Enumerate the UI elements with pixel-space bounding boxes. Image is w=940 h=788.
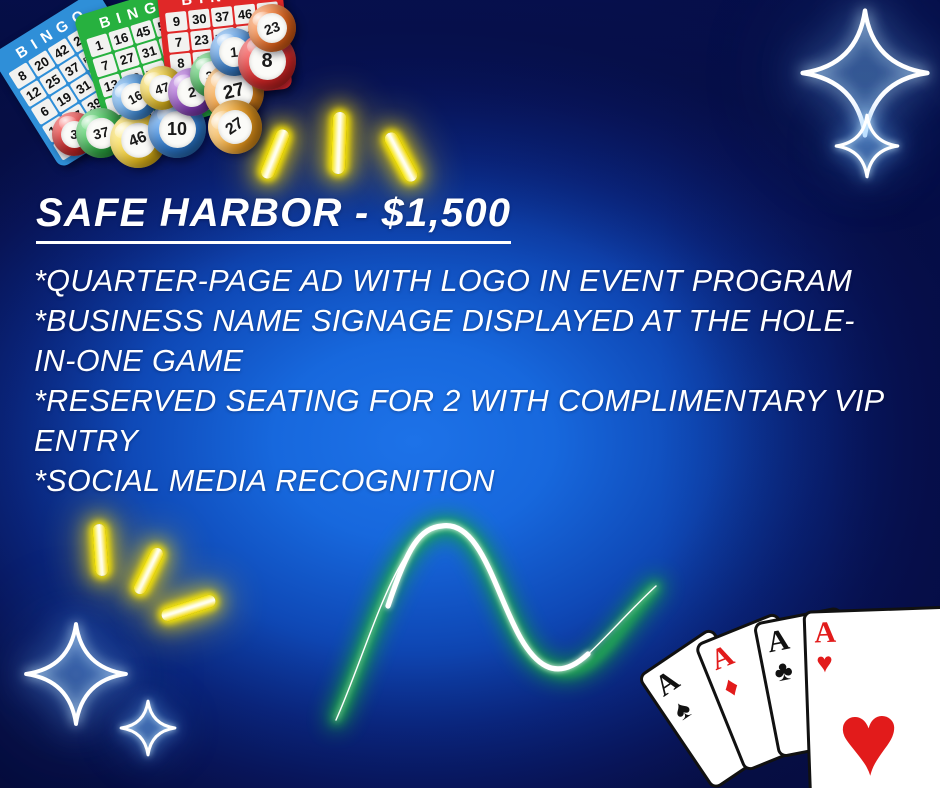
neon-wave	[296, 494, 696, 724]
spade-icon: ♠	[668, 694, 696, 726]
neon-dash	[382, 130, 420, 184]
benefit-item: *RESERVED SEATING FOR 2 WITH COMPLIMENTA…	[34, 381, 886, 461]
sparkle-bottom-left-large	[24, 622, 128, 726]
sponsorship-poster: BINGO 8 20 42 25 37 12 25 37 FREE 51 6	[0, 0, 940, 788]
dash-burst-bottom	[72, 518, 232, 628]
bingo-ball-number: 27	[211, 103, 258, 150]
sparkle-top-right-small	[835, 114, 899, 178]
benefit-item: *BUSINESS NAME SIGNAGE DISPLAYED AT THE …	[34, 301, 886, 381]
playing-cards-fan: A ♠ A ♦ A ♣ A ♥ ♥	[658, 584, 940, 788]
benefit-item: *SOCIAL MEDIA RECOGNITION	[34, 461, 886, 501]
neon-dash	[132, 546, 166, 597]
diamond-icon: ♦	[719, 671, 743, 702]
bingo-balls-group: 3 37 46 10 16 47 2 31	[0, 0, 320, 200]
neon-dash	[331, 112, 347, 174]
heart-icon: ♥	[816, 649, 834, 678]
neon-dash	[92, 524, 109, 577]
page-title: SAFE HARBOR - $1,500	[36, 191, 511, 244]
heart-center-icon: ♥	[836, 687, 901, 788]
club-icon: ♣	[772, 656, 795, 687]
card-rank: A	[814, 618, 837, 649]
card-rank: A	[707, 640, 738, 676]
neon-dash	[160, 593, 217, 623]
benefit-item: *QUARTER-PAGE AD WITH LOGO IN EVENT PROG…	[34, 261, 886, 301]
sparkle-bottom-left-small	[120, 700, 176, 756]
ace-of-hearts-card: A ♥ ♥	[803, 605, 940, 788]
benefits-list: *QUARTER-PAGE AD WITH LOGO IN EVENT PROG…	[34, 261, 886, 501]
bingo-ball-number: 23	[253, 9, 291, 47]
